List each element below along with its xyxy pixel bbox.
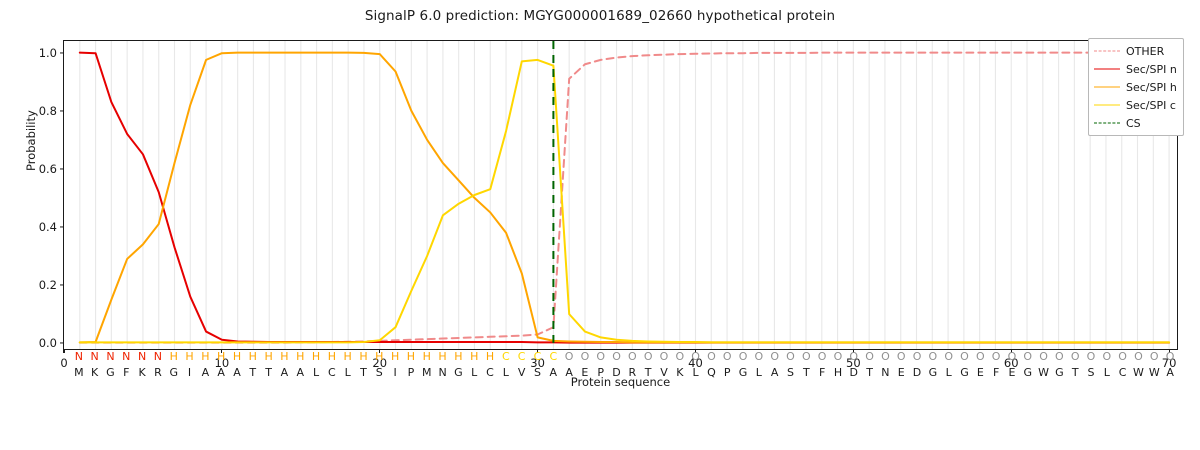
region-label: N [138,349,146,364]
x-tick-label: 50 [846,356,861,370]
region-label: N [75,349,83,364]
y-axis-label: Probability [24,110,38,171]
line-swatch-sec-spi-h [1094,82,1120,93]
region-label: O [723,349,732,364]
region-label: O [1087,349,1096,364]
region-label: O [707,349,716,364]
series-line-other [80,53,1169,343]
region-label: H [470,349,478,364]
x-tick-label: 10 [215,356,230,370]
region-label: O [1118,349,1127,364]
x-tick-label: 20 [372,356,387,370]
region-label: H [423,349,431,364]
x-tick-mark [537,349,538,353]
region-label: O [1102,349,1111,364]
y-tick-mark [60,343,64,344]
region-label: N [91,349,99,364]
region-label: O [612,349,621,364]
region-label: H [328,349,336,364]
legend-label-other: OTHER [1126,45,1164,58]
plot-axes: Probability 0.00.20.40.60.81.0 010203040… [63,40,1178,350]
series-line-sec-spi-c [80,60,1169,342]
line-swatch-cs [1094,118,1120,129]
y-tick-mark [60,110,64,111]
region-label: O [929,349,938,364]
region-label: O [944,349,953,364]
region-label: O [1039,349,1048,364]
line-swatch-sec-spi-c [1094,100,1120,111]
y-tick-mark [60,52,64,53]
region-label: N [106,349,114,364]
region-label: H [312,349,320,364]
region-label: O [897,349,906,364]
region-label: H [201,349,209,364]
gridlines [80,41,1169,349]
region-label: H [280,349,288,364]
region-label: O [675,349,684,364]
y-tick-label: 0.8 [39,104,57,118]
line-swatch-other [1094,46,1120,57]
legend[interactable]: OTHER Sec/SPI n Sec/SPI h Sec/SPI c CS [1088,38,1184,136]
region-label: O [834,349,843,364]
legend-item-cs[interactable]: CS [1094,115,1177,131]
region-label: H [438,349,446,364]
region-label: O [1023,349,1032,364]
region-label: O [913,349,922,364]
x-tick-mark [1169,349,1170,353]
y-tick-label: 0.6 [39,162,57,176]
region-label: H [454,349,462,364]
region-label: O [770,349,779,364]
region-label: C [549,349,557,364]
region-label: O [739,349,748,364]
legend-item-sec-spi-h[interactable]: Sec/SPI h [1094,79,1177,95]
region-label: O [976,349,985,364]
region-label: H [170,349,178,364]
x-tick-label: 60 [1004,356,1019,370]
legend-item-sec-spi-n[interactable]: Sec/SPI n [1094,61,1177,77]
x-tick-mark [695,349,696,353]
region-label: O [992,349,1001,364]
region-label: H [185,349,193,364]
x-tick-label: 40 [688,356,703,370]
region-label: H [486,349,494,364]
region-label: O [1071,349,1080,364]
region-label: H [233,349,241,364]
region-label: O [802,349,811,364]
legend-item-sec-spi-c[interactable]: Sec/SPI c [1094,97,1177,113]
x-tick-mark [221,349,222,353]
region-label: N [154,349,162,364]
region-label: H [359,349,367,364]
x-tick-mark [1011,349,1012,353]
x-tick-mark [63,349,64,353]
y-tick-label: 0.2 [39,278,57,292]
region-label: H [296,349,304,364]
legend-item-other[interactable]: OTHER [1094,43,1177,59]
y-tick-label: 1.0 [39,46,57,60]
region-label: H [249,349,257,364]
region-label: H [391,349,399,364]
region-label: O [818,349,827,364]
region-label: O [565,349,574,364]
x-tick-label: 0 [60,356,67,370]
region-label: O [628,349,637,364]
region-label: O [660,349,669,364]
region-label: H [407,349,415,364]
x-tick-label: 30 [530,356,545,370]
region-label: O [865,349,874,364]
series-line-sec-spi-n [80,53,1169,343]
x-tick-label: 70 [1162,356,1177,370]
y-tick-mark [60,226,64,227]
legend-label-sec-spi-h: Sec/SPI h [1126,81,1177,94]
y-tick-mark [60,168,64,169]
region-label: H [344,349,352,364]
region-label: O [1150,349,1159,364]
x-tick-mark [379,349,380,353]
region-label: O [881,349,890,364]
y-tick-mark [60,285,64,286]
region-label: O [596,349,605,364]
region-label: O [581,349,590,364]
region-label: O [644,349,653,364]
line-swatch-sec-spi-n [1094,64,1120,75]
y-tick-label: 0.4 [39,220,57,234]
region-label: C [518,349,526,364]
region-label: O [1055,349,1064,364]
plot-canvas [64,41,1177,349]
region-label: O [960,349,969,364]
region-label: O [1134,349,1143,364]
signalp-prediction-figure: SignalP 6.0 prediction: MGYG000001689_02… [0,0,1200,450]
region-label: N [122,349,130,364]
series-line-sec-spi-h [80,53,1169,343]
region-label: O [755,349,764,364]
region-label: O [786,349,795,364]
legend-label-cs: CS [1126,117,1141,130]
region-label: H [264,349,272,364]
legend-label-sec-spi-c: Sec/SPI c [1126,99,1176,112]
x-tick-mark [853,349,854,353]
legend-label-sec-spi-n: Sec/SPI n [1126,63,1177,76]
chart-title: SignalP 6.0 prediction: MGYG000001689_02… [0,8,1200,24]
x-axis-label: Protein sequence [64,375,1177,389]
y-tick-label: 0.0 [39,336,57,350]
region-label: C [502,349,510,364]
